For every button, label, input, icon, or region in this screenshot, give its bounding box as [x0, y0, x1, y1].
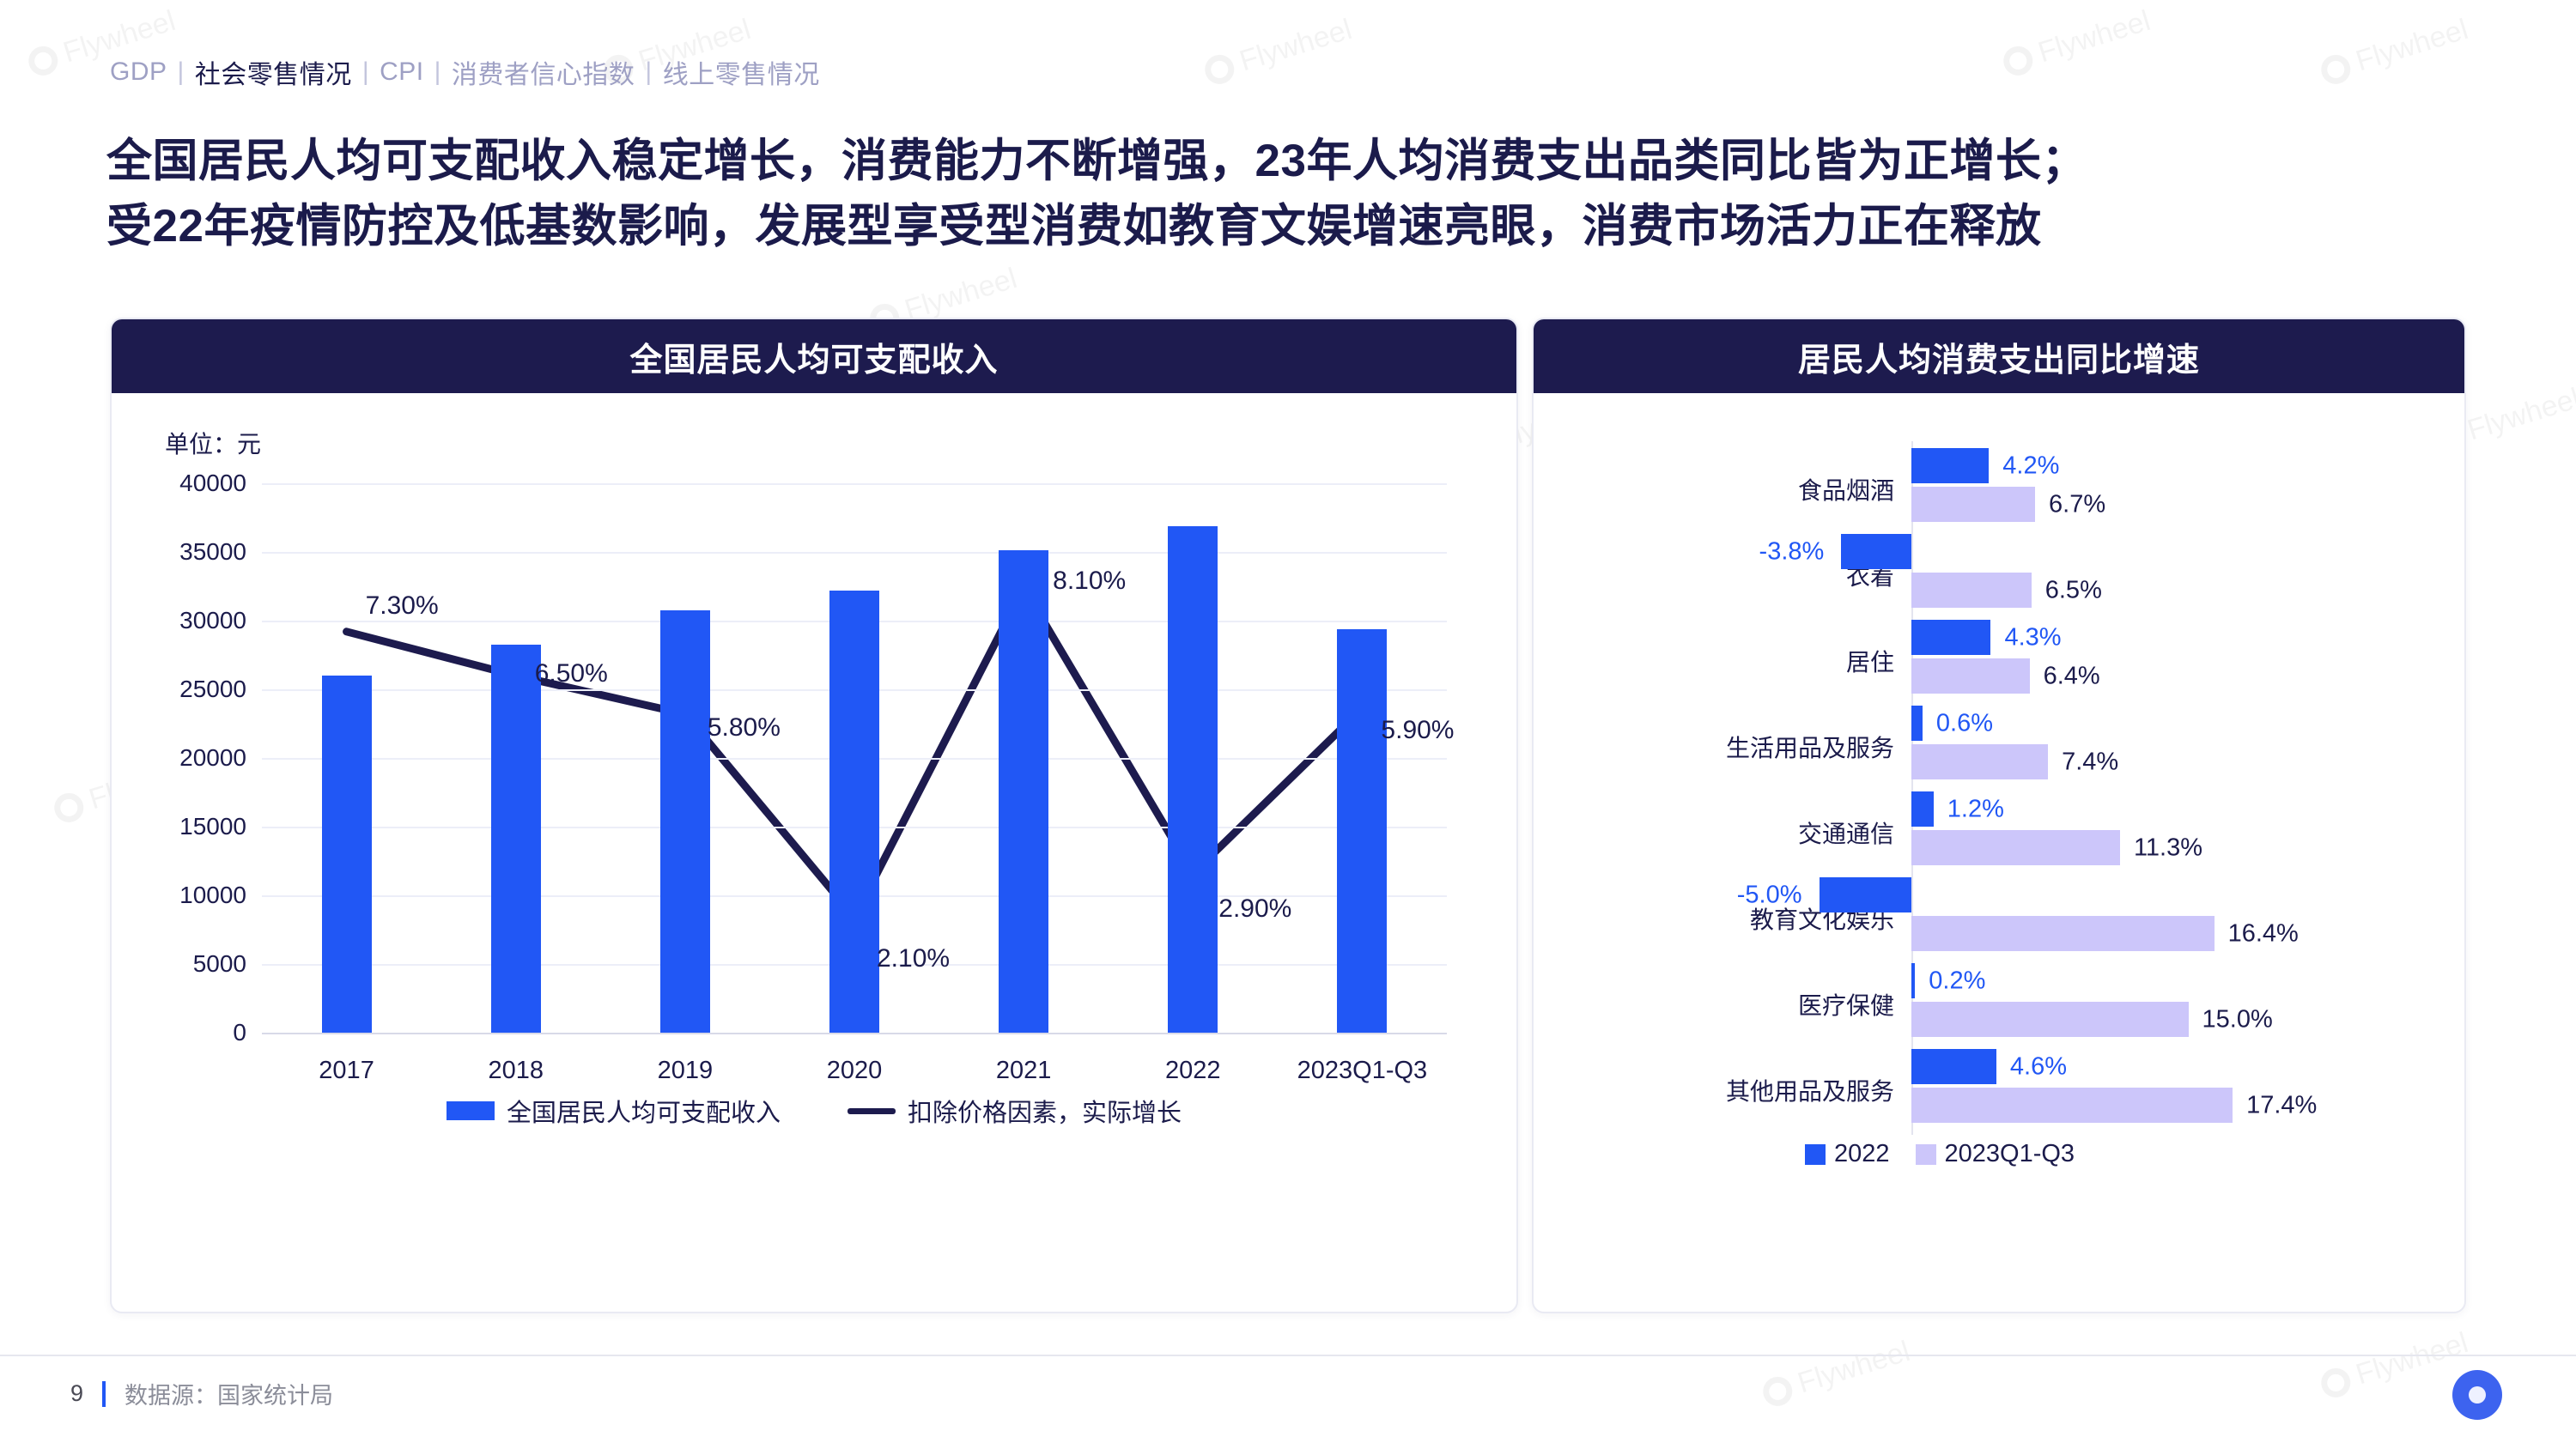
category-label-7: 其他用品及服务: [1726, 1073, 1894, 1107]
value-label-2022-衣着: -3.8%: [1759, 537, 1825, 566]
category-label-4: 交通通信: [1798, 815, 1894, 850]
y-axis-tick-label: 0: [233, 1019, 246, 1046]
value-label-2022-食品烟酒: 4.2%: [2002, 452, 2059, 480]
x-axis-tick-label: 2017: [319, 1057, 374, 1085]
legend-label: 全国居民人均可支配收入: [507, 1093, 781, 1129]
bar-2019[interactable]: [660, 610, 710, 1033]
x-axis-tick-label: 2021: [996, 1057, 1052, 1085]
chart-card-disposable-income: 全国居民人均可支配收入 单位：元 05000100001500020000250…: [110, 318, 1518, 1313]
bar-2022[interactable]: [1168, 526, 1218, 1033]
legend-item-0[interactable]: 全国居民人均可支配收入: [447, 1093, 781, 1129]
breadcrumb-item-1[interactable]: 社会零售情况: [195, 53, 352, 91]
bar-2023Q1-Q3-教育文化娱乐[interactable]: [1911, 916, 2215, 951]
breadcrumb-item-2[interactable]: CPI: [380, 58, 424, 87]
chart-card-left-header: 全国居民人均可支配收入: [112, 319, 1516, 393]
bar-2023Q1-Q3-衣着[interactable]: [1911, 573, 2032, 608]
page-title-line1: 全国居民人均可支配收入稳定增长，消费能力不断增强，23年人均消费支出品类同比皆为…: [106, 129, 2476, 194]
value-label-2022-教育文化娱乐: -5.0%: [1737, 881, 1802, 909]
gridline: [262, 1033, 1447, 1034]
legend-swatch-line: [848, 1108, 896, 1114]
bar-2023Q1-Q3-交通通信[interactable]: [1911, 830, 2120, 865]
y-axis-tick-label: 10000: [179, 882, 246, 909]
breadcrumb-item-3[interactable]: 消费者信心指数: [452, 53, 635, 91]
bar-2023Q1-Q3-医疗保健[interactable]: [1911, 1002, 2189, 1037]
gridline: [262, 552, 1447, 554]
category-label-3: 生活用品及服务: [1726, 730, 1894, 764]
data-source-label: 数据源：国家统计局: [125, 1377, 333, 1410]
watermark-flywheel: Flywheel: [1999, 4, 2154, 81]
slide-root: FlywheelFlywheelFlywheelFlywheelFlywheel…: [0, 0, 2576, 1449]
breadcrumb-item-0[interactable]: GDP: [110, 58, 167, 87]
value-label-2023Q1-Q3-居住: 6.4%: [2044, 662, 2100, 690]
x-axis-tick-label: 2020: [827, 1057, 883, 1085]
chart-card-right-body: 食品烟酒4.2%6.7%衣着-3.8%6.5%居住4.3%6.4%生活用品及服务…: [1534, 393, 2464, 1312]
bar-line-chart-plot-area: 0500010000150002000025000300003500040000…: [262, 483, 1447, 1033]
value-label-2022-居住: 4.3%: [2004, 623, 2061, 652]
value-label-2022-交通通信: 1.2%: [1947, 795, 2004, 823]
bar-2022-交通通信[interactable]: [1911, 791, 1934, 827]
bar-2023Q1-Q3-居住[interactable]: [1911, 658, 2030, 694]
y-axis-tick-label: 30000: [179, 607, 246, 634]
footer-accent-bar: [102, 1381, 106, 1407]
bar-2017[interactable]: [322, 676, 372, 1033]
y-axis-tick-label: 35000: [179, 538, 246, 566]
bar-2022-衣着[interactable]: [1841, 534, 1911, 569]
y-axis-tick-label: 15000: [179, 813, 246, 840]
legend-label: 2023Q1-Q3: [1945, 1140, 2075, 1168]
x-axis-tick-label: 2023Q1-Q3: [1297, 1057, 1428, 1085]
bar-2023Q1-Q3[interactable]: [1337, 629, 1387, 1033]
chart-card-consumption-growth: 居民人均消费支出同比增速 食品烟酒4.2%6.7%衣着-3.8%6.5%居住4.…: [1532, 318, 2466, 1313]
bar-2020[interactable]: [829, 591, 879, 1033]
legend-label: 2022: [1834, 1140, 1890, 1168]
chart-legend-left: 全国居民人均可支配收入扣除价格因素，实际增长: [112, 1093, 1516, 1129]
chart-legend-right: 20222023Q1-Q3: [1805, 1140, 2075, 1168]
horizontal-bar-chart-plot-area: 食品烟酒4.2%6.7%衣着-3.8%6.5%居住4.3%6.4%生活用品及服务…: [1534, 393, 2464, 1312]
legend-swatch-bar: [447, 1101, 495, 1120]
legend-swatch: [1805, 1144, 1826, 1165]
line-point-label-2017: 7.30%: [366, 591, 439, 621]
page-title-line2: 受22年疫情防控及低基数影响，发展型享受型消费如教育文娱增速亮眼，消费市场活力正…: [106, 194, 2476, 259]
bar-2022-其他用品及服务[interactable]: [1911, 1049, 1996, 1084]
watermark-flywheel: Flywheel: [2317, 1326, 2472, 1403]
bar-2022-居住[interactable]: [1911, 620, 1990, 655]
value-label-2023Q1-Q3-教育文化娱乐: 16.4%: [2228, 919, 2299, 948]
bar-2023Q1-Q3-食品烟酒[interactable]: [1911, 487, 2035, 522]
bar-2018[interactable]: [491, 645, 541, 1033]
line-point-label-2019: 5.80%: [708, 713, 781, 743]
bar-2022-教育文化娱乐[interactable]: [1820, 877, 1912, 912]
x-axis-tick-label: 2022: [1165, 1057, 1221, 1085]
category-label-2: 居住: [1846, 644, 1894, 678]
value-label-2023Q1-Q3-交通通信: 11.3%: [2134, 834, 2202, 862]
bar-2021[interactable]: [999, 550, 1048, 1033]
footer: 9 数据源：国家统计局: [70, 1377, 333, 1410]
breadcrumb-item-4[interactable]: 线上零售情况: [663, 53, 820, 91]
breadcrumb-separator: |: [645, 58, 652, 87]
value-label-2023Q1-Q3-衣着: 6.5%: [2045, 576, 2102, 604]
breadcrumb-separator: |: [362, 58, 369, 87]
y-axis-tick-label: 40000: [179, 470, 246, 497]
value-label-2023Q1-Q3-生活用品及服务: 7.4%: [2062, 748, 2118, 776]
y-axis-unit-label: 单位：元: [165, 426, 261, 460]
watermark-flywheel: Flywheel: [1200, 13, 1356, 89]
legend-swatch: [1916, 1144, 1936, 1165]
bar-2022-医疗保健[interactable]: [1911, 963, 1915, 998]
x-axis-tick-label: 2018: [488, 1057, 544, 1085]
line-point-label-2018: 6.50%: [535, 659, 608, 688]
flywheel-logo-icon: [2452, 1370, 2502, 1420]
bar-2022-食品烟酒[interactable]: [1911, 448, 1989, 483]
value-label-2022-生活用品及服务: 0.6%: [1936, 709, 1993, 737]
y-axis-tick-label: 5000: [193, 950, 246, 978]
line-point-label-2020: 2.10%: [877, 944, 950, 973]
line-point-label-2022: 2.90%: [1218, 894, 1291, 924]
watermark-flywheel: Flywheel: [2317, 13, 2472, 89]
y-axis-tick-label: 20000: [179, 744, 246, 772]
category-label-0: 食品烟酒: [1798, 472, 1894, 506]
category-label-6: 医疗保健: [1798, 987, 1894, 1022]
legend-item-0[interactable]: 2022: [1805, 1140, 1890, 1168]
breadcrumb-separator: |: [434, 58, 441, 87]
value-label-2023Q1-Q3-医疗保健: 15.0%: [2202, 1005, 2273, 1034]
chart-card-right-header: 居民人均消费支出同比增速: [1534, 319, 2464, 393]
bar-2023Q1-Q3-生活用品及服务[interactable]: [1911, 744, 2048, 779]
bar-2023Q1-Q3-其他用品及服务[interactable]: [1911, 1088, 2233, 1123]
breadcrumb-separator: |: [178, 58, 185, 87]
value-label-2023Q1-Q3-其他用品及服务: 17.4%: [2246, 1091, 2317, 1119]
chart-card-left-body: 单位：元 05000100001500020000250003000035000…: [112, 393, 1516, 1312]
page-title: 全国居民人均可支配收入稳定增长，消费能力不断增强，23年人均消费支出品类同比皆为…: [106, 129, 2476, 260]
watermark-flywheel: Flywheel: [1759, 1335, 1914, 1411]
breadcrumb: GDP|社会零售情况|CPI|消费者信心指数|线上零售情况: [110, 53, 820, 91]
bar-2022-生活用品及服务[interactable]: [1911, 706, 1923, 741]
gridline: [262, 483, 1447, 485]
legend-label: 扣除价格因素，实际增长: [908, 1093, 1182, 1129]
legend-item-1[interactable]: 扣除价格因素，实际增长: [848, 1093, 1182, 1129]
y-axis-tick-label: 25000: [179, 676, 246, 703]
page-number: 9: [70, 1380, 83, 1407]
x-axis-tick-label: 2019: [658, 1057, 714, 1085]
footer-divider: [0, 1355, 2576, 1356]
line-point-label-2021: 8.10%: [1053, 567, 1126, 596]
line-point-label-2023Q1-Q3: 5.90%: [1381, 716, 1454, 745]
value-label-2022-医疗保健: 0.2%: [1929, 967, 1985, 995]
legend-item-1[interactable]: 2023Q1-Q3: [1916, 1140, 2075, 1168]
value-label-2023Q1-Q3-食品烟酒: 6.7%: [2049, 490, 2105, 518]
value-label-2022-其他用品及服务: 4.6%: [2010, 1052, 2067, 1081]
